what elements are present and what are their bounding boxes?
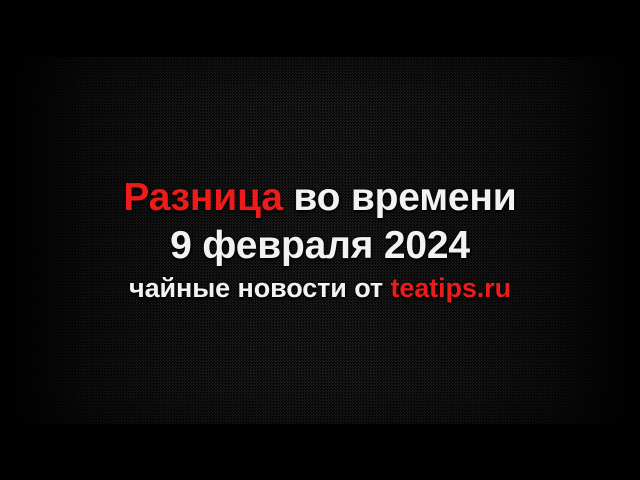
headline-rest: во времени (283, 176, 517, 219)
title-card-canvas: Разница во времени 9 февраля 2024 чайные… (0, 0, 640, 480)
letterbox-bar-bottom (0, 424, 640, 480)
title-text-block: Разница во времени 9 февраля 2024 чайные… (0, 178, 640, 302)
subtitle-plain-text: чайные новости от (129, 273, 390, 303)
site-name-accent: teatips.ru (390, 273, 511, 303)
headline-accent-word: Разница (123, 176, 282, 219)
headline-subtitle: чайные новости от teatips.ru (0, 275, 640, 302)
headline-primary: Разница во времени (0, 178, 640, 217)
headline-date: 9 февраля 2024 (0, 226, 640, 265)
letterbox-bar-top (0, 0, 640, 57)
